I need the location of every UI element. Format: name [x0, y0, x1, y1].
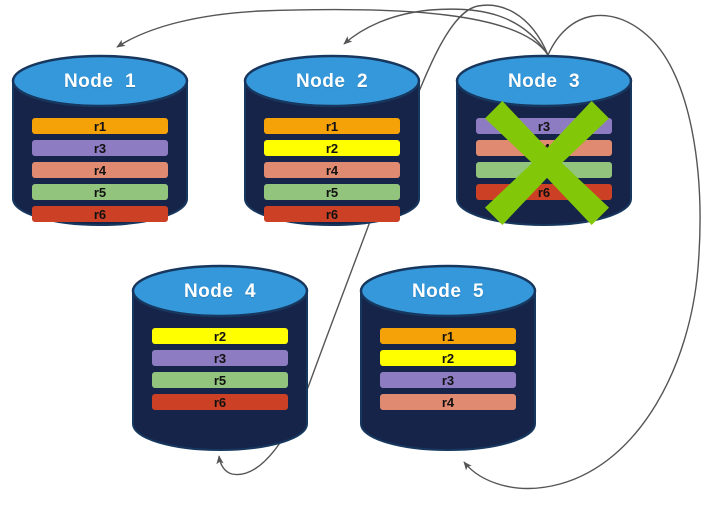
node-3[interactable]: Node 3r3r4r5r6 [456, 55, 632, 225]
replica-bar[interactable]: r6 [264, 206, 400, 222]
node-3-label: Node 3 [456, 71, 632, 93]
replica-bar-label: r1 [326, 120, 338, 133]
replica-bar-label: r1 [442, 330, 454, 343]
replica-bar-label: r6 [94, 208, 106, 221]
replica-bar-label: r3 [214, 352, 226, 365]
nodes-layer: Node 1r1r3r4r5r6Node 2r1r2r4r5r6Node 3r3… [0, 0, 708, 508]
replica-bar-label: r4 [326, 164, 338, 177]
replica-bar[interactable]: r6 [32, 206, 168, 222]
diagram-canvas: Node 1r1r3r4r5r6Node 2r1r2r4r5r6Node 3r3… [0, 0, 708, 508]
replica-bar[interactable]: r1 [32, 118, 168, 134]
replica-bar[interactable]: r5 [152, 372, 288, 388]
replica-bar[interactable]: r4 [380, 394, 516, 410]
node-1-label: Node 1 [12, 71, 188, 93]
node-4-label: Node 4 [132, 281, 308, 303]
node-4[interactable]: Node 4r2r3r5r6 [132, 265, 308, 450]
replica-bar[interactable]: r2 [380, 350, 516, 366]
replica-bar-list: r1r2r4r5r6 [244, 118, 420, 222]
replica-bar[interactable]: r5 [264, 184, 400, 200]
replica-bar-label: r2 [214, 330, 226, 343]
replica-bar-label: r1 [94, 120, 106, 133]
failure-x-icon [485, 100, 609, 226]
replica-bar-list: r1r2r3r4 [360, 328, 536, 410]
replica-bar-list: r2r3r5r6 [132, 328, 308, 410]
replica-bar[interactable]: r5 [32, 184, 168, 200]
replica-bar-list: r1r3r4r5r6 [12, 118, 188, 222]
replica-bar-label: r2 [326, 142, 338, 155]
node-2[interactable]: Node 2r1r2r4r5r6 [244, 55, 420, 225]
replica-bar[interactable]: r1 [380, 328, 516, 344]
node-5[interactable]: Node 5r1r2r3r4 [360, 265, 536, 450]
replica-bar[interactable]: r3 [32, 140, 168, 156]
replica-bar[interactable]: r4 [264, 162, 400, 178]
replica-bar-label: r5 [94, 186, 106, 199]
replica-bar[interactable]: r4 [32, 162, 168, 178]
replica-bar-label: r5 [326, 186, 338, 199]
replica-bar-label: r4 [442, 396, 454, 409]
replica-bar[interactable]: r2 [152, 328, 288, 344]
node-2-label: Node 2 [244, 71, 420, 93]
node-5-label: Node 5 [360, 281, 536, 303]
replica-bar-label: r4 [94, 164, 106, 177]
replica-bar[interactable]: r1 [264, 118, 400, 134]
replica-bar-label: r5 [214, 374, 226, 387]
replica-bar[interactable]: r3 [380, 372, 516, 388]
replica-bar-label: r6 [326, 208, 338, 221]
replica-bar-label: r6 [214, 396, 226, 409]
replica-bar-label: r3 [442, 374, 454, 387]
replica-bar[interactable]: r3 [152, 350, 288, 366]
replica-bar-label: r3 [94, 142, 106, 155]
replica-bar[interactable]: r2 [264, 140, 400, 156]
replica-bar[interactable]: r6 [152, 394, 288, 410]
replica-bar-label: r2 [442, 352, 454, 365]
node-1[interactable]: Node 1r1r3r4r5r6 [12, 55, 188, 225]
